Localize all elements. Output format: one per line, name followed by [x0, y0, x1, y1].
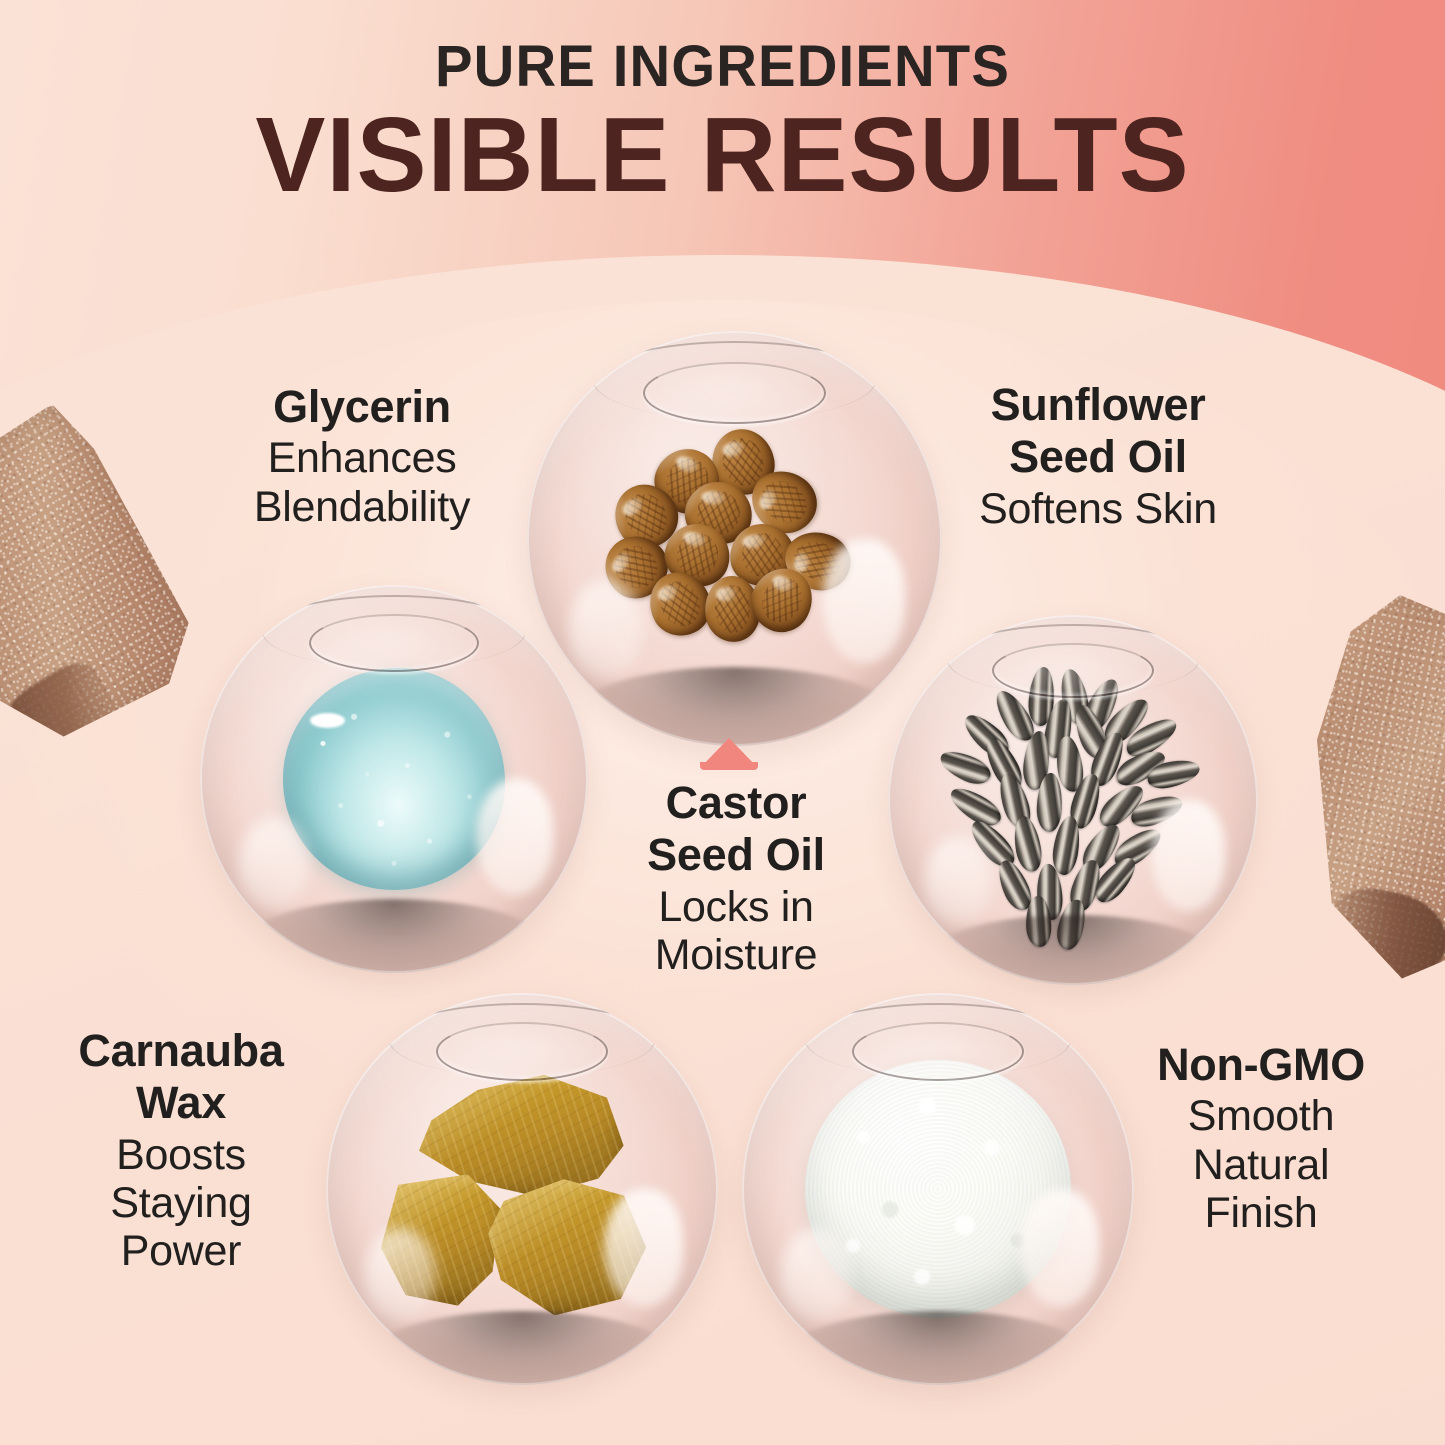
glass-rim-inner — [852, 1022, 1024, 1081]
glass-rim-inner — [309, 614, 480, 672]
label-castor-title-line: Seed Oil — [588, 830, 884, 880]
label-carnauba-title-line: Wax — [28, 1078, 334, 1128]
headline-secondary: VISIBLE RESULTS — [7, 102, 1438, 208]
label-sunflower-title-line: Seed Oil — [918, 432, 1278, 482]
label-glycerin-title: Glycerin — [176, 382, 548, 432]
glass-rim-inner — [992, 643, 1155, 699]
label-sunflower-seed-oil: Sunflower Seed Oil Softens Skin — [918, 380, 1278, 533]
glass-highlight — [1151, 800, 1225, 911]
sphere-glycerin — [200, 585, 588, 973]
sunflower-seed — [935, 746, 994, 790]
triangle-pointer-icon — [700, 738, 758, 768]
ingredients-infographic: PURE INGREDIENTS VISIBLE RESULTS — [0, 0, 1445, 1445]
label-sunflower-title-line: Sunflower — [918, 380, 1278, 430]
glass-highlight — [239, 818, 309, 911]
label-glycerin: Glycerin Enhances Blendability — [176, 382, 548, 531]
label-non-gmo-title: Non-GMO — [1108, 1040, 1414, 1090]
headline-primary: PURE INGREDIENTS — [22, 38, 1424, 96]
label-carnauba-title-line: Carnauba — [28, 1026, 334, 1076]
glass-highlight — [604, 1189, 682, 1307]
blue-gel-blob — [283, 668, 504, 889]
sphere-non-gmo — [742, 993, 1134, 1385]
label-non-gmo-desc-line: Smooth — [1108, 1092, 1414, 1140]
label-carnauba-wax: Carnauba Wax Boosts Staying Power — [28, 1026, 334, 1275]
label-castor-desc-line: Moisture — [588, 931, 884, 979]
label-sunflower-desc-line: Softens Skin — [918, 485, 1278, 533]
glass-highlight — [476, 779, 554, 895]
label-non-gmo-desc-line: Natural — [1108, 1141, 1414, 1189]
label-carnauba-desc-line: Power — [28, 1227, 334, 1275]
label-glycerin-desc-line: Enhances — [176, 434, 548, 482]
glass-rim-inner — [436, 1022, 608, 1081]
headline-block: PURE INGREDIENTS VISIBLE RESULTS — [0, 38, 1445, 208]
sphere-castor-seed-oil — [527, 331, 942, 746]
label-castor-title-line: Castor — [588, 778, 884, 828]
label-non-gmo-desc-line: Finish — [1108, 1189, 1414, 1237]
glass-rim-inner — [643, 362, 826, 424]
glass-highlight — [1020, 1189, 1098, 1307]
glass-highlight — [781, 1228, 852, 1322]
gel-highlight — [310, 713, 345, 728]
glass-highlight — [365, 1228, 436, 1322]
label-carnauba-desc-line: Staying — [28, 1179, 334, 1227]
label-carnauba-desc-line: Boosts — [28, 1131, 334, 1179]
sphere-carnauba-wax — [326, 993, 718, 1385]
label-castor-desc-line: Locks in — [588, 883, 884, 931]
label-castor-seed-oil: Castor Seed Oil Locks in Moisture — [588, 778, 884, 979]
sphere-sunflower-seed-oil — [888, 615, 1258, 985]
label-glycerin-desc-line: Blendability — [176, 483, 548, 531]
glass-highlight — [925, 837, 992, 926]
label-non-gmo: Non-GMO Smooth Natural Finish — [1108, 1040, 1414, 1237]
